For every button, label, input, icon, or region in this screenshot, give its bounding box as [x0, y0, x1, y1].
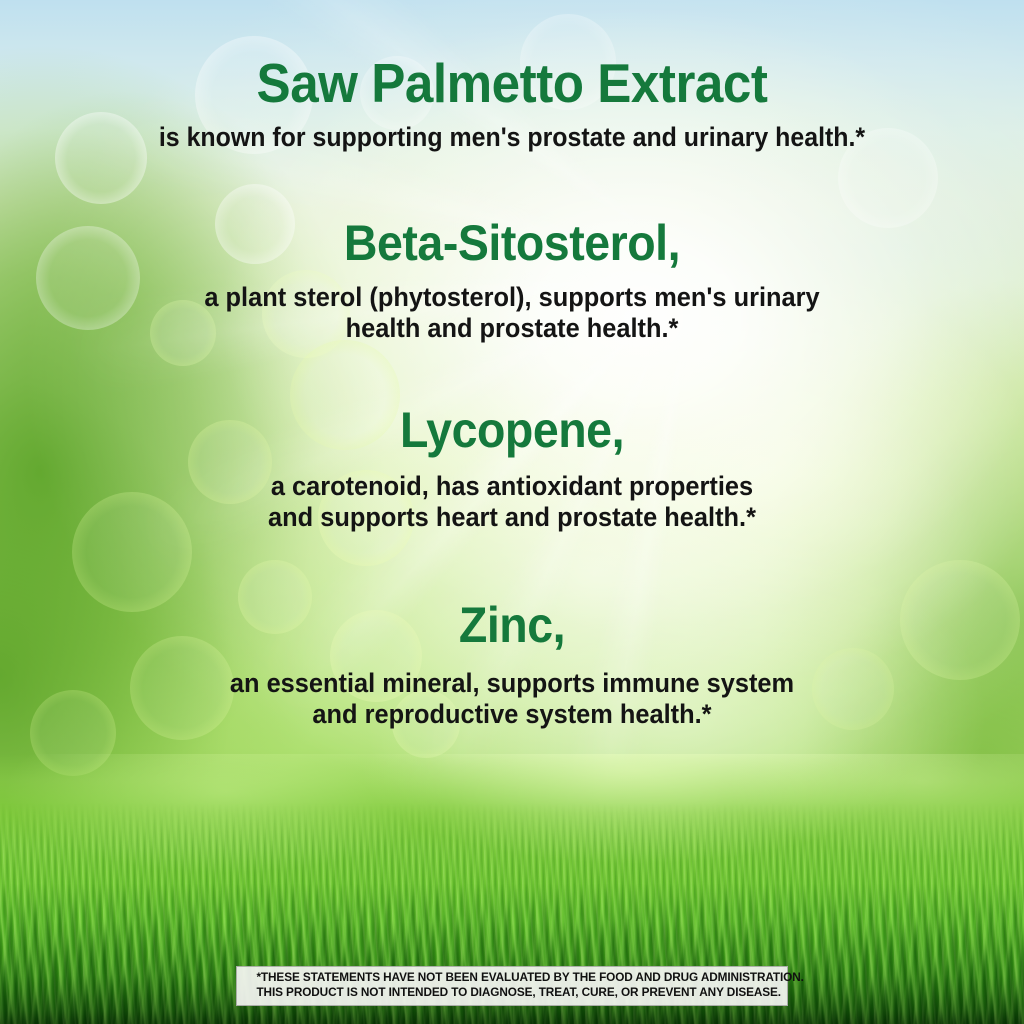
heading-beta-sitosterol: Beta-Sitosterol, [36, 218, 988, 268]
description-zinc: an essential mineral, supports immune sy… [31, 668, 994, 731]
infographic-canvas: Saw Palmetto Extract is known for suppor… [0, 0, 1024, 1024]
section-saw-palmetto: Saw Palmetto Extract is known for suppor… [0, 56, 1024, 153]
fda-disclaimer-box: *THESE STATEMENTS HAVE NOT BEEN EVALUATE… [236, 966, 788, 1006]
description-lycopene: a carotenoid, has antioxidant properties… [31, 471, 994, 534]
section-lycopene: Lycopene, a carotenoid, has antioxidant … [0, 405, 1024, 534]
description-line: and supports heart and prostate health.* [31, 502, 994, 533]
heading-saw-palmetto: Saw Palmetto Extract [36, 56, 988, 111]
description-line: a plant sterol (phytosterol), supports m… [31, 282, 994, 313]
disclaimer-line-1: *THESE STATEMENTS HAVE NOT BEEN EVALUATE… [256, 970, 767, 985]
disclaimer-line-2: THIS PRODUCT IS NOT INTENDED TO DIAGNOSE… [256, 985, 767, 1000]
section-beta-sitosterol: Beta-Sitosterol, a plant sterol (phytost… [0, 218, 1024, 345]
description-beta-sitosterol: a plant sterol (phytosterol), supports m… [31, 282, 994, 345]
description-line: an essential mineral, supports immune sy… [31, 668, 994, 699]
description-line: and reproductive system health.* [31, 699, 994, 730]
heading-zinc: Zinc, [36, 600, 988, 650]
description-line: a carotenoid, has antioxidant properties [31, 471, 994, 502]
description-saw-palmetto: is known for supporting men's prostate a… [31, 122, 994, 153]
heading-lycopene: Lycopene, [36, 405, 988, 455]
ingredient-text-content: Saw Palmetto Extract is known for suppor… [0, 0, 1024, 1024]
description-line: health and prostate health.* [31, 313, 994, 344]
section-zinc: Zinc, an essential mineral, supports imm… [0, 600, 1024, 731]
description-line: is known for supporting men's prostate a… [31, 122, 994, 153]
